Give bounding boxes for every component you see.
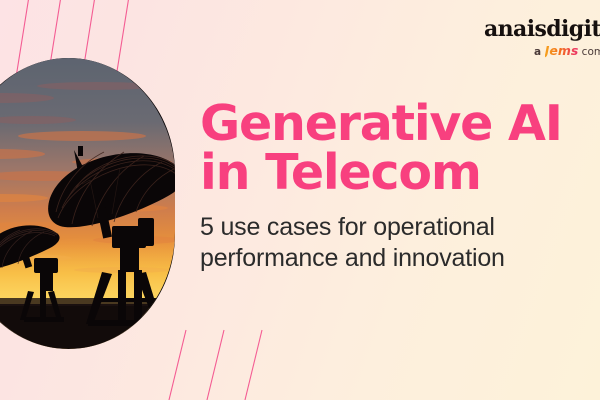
brand-logo: anaisdigital a Jems company: [484, 18, 600, 58]
logo-tag-brand: Jems: [545, 43, 579, 58]
hero-photo: [0, 58, 175, 349]
deco-line: [190, 330, 224, 400]
page-title: Generative AI in Telecom: [200, 100, 600, 197]
satellite-dishes-image: [0, 58, 175, 349]
logo-tag-suffix: company: [578, 46, 600, 58]
logo-tag-prefix: a: [534, 46, 545, 58]
banner-root: Generative AI in Telecom 5 use cases for…: [0, 0, 600, 400]
deco-line: [152, 330, 186, 400]
subhead-line-1: 5 use cases for operational: [200, 213, 495, 241]
page-subtitle: 5 use cases for operational performance …: [200, 212, 600, 273]
subhead-line-2: performance and innovation: [200, 244, 505, 272]
logo-tagline: a Jems company: [534, 45, 600, 58]
deco-line: [228, 330, 262, 400]
logo-wordmark: anaisdigital: [484, 18, 600, 40]
headline-line-2: in Telecom: [200, 149, 600, 198]
copy-block: Generative AI in Telecom 5 use cases for…: [200, 100, 600, 273]
